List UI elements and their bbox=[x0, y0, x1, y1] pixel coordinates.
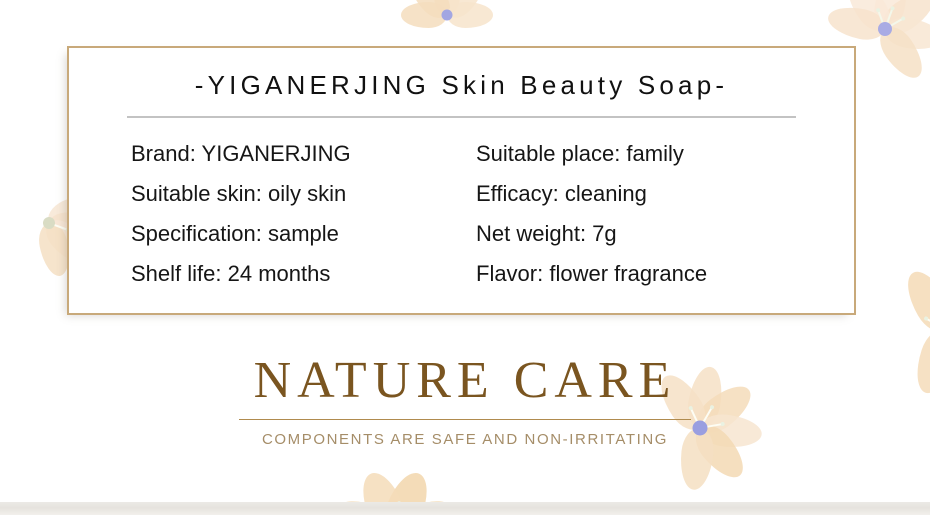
spec-item-suitable-place: Suitable place: family bbox=[476, 134, 836, 174]
product-spec-poster: -YIGANERJING Skin Beauty Soap- Brand: YI… bbox=[0, 0, 930, 515]
spec-item-specification: Specification: sample bbox=[131, 214, 476, 254]
nature-care-divider bbox=[239, 419, 691, 420]
title-divider bbox=[127, 116, 796, 118]
page-title: -YIGANERJING Skin Beauty Soap- bbox=[69, 70, 854, 101]
spec-columns: Brand: YIGANERJING Suitable skin: oily s… bbox=[69, 134, 854, 294]
product-spec-card: -YIGANERJING Skin Beauty Soap- Brand: YI… bbox=[67, 46, 856, 315]
nature-care-tagline: COMPONENTS ARE SAFE AND NON-IRRITATING bbox=[0, 431, 930, 448]
spec-column-left: Brand: YIGANERJING Suitable skin: oily s… bbox=[131, 134, 476, 294]
spec-item-suitable-skin: Suitable skin: oily skin bbox=[131, 174, 476, 214]
spec-column-right: Suitable place: family Efficacy: cleanin… bbox=[476, 134, 836, 294]
spec-item-shelf-life: Shelf life: 24 months bbox=[131, 254, 476, 294]
bottom-band bbox=[0, 502, 930, 515]
nature-care-headline: NATURE CARE bbox=[0, 352, 930, 410]
spec-item-brand: Brand: YIGANERJING bbox=[131, 134, 476, 174]
spec-item-net-weight: Net weight: 7g bbox=[476, 214, 836, 254]
nature-care-block: NATURE CARE COMPONENTS ARE SAFE AND NON-… bbox=[0, 352, 930, 448]
spec-item-flavor: Flavor: flower fragrance bbox=[476, 254, 836, 294]
spec-item-efficacy: Efficacy: cleaning bbox=[476, 174, 836, 214]
